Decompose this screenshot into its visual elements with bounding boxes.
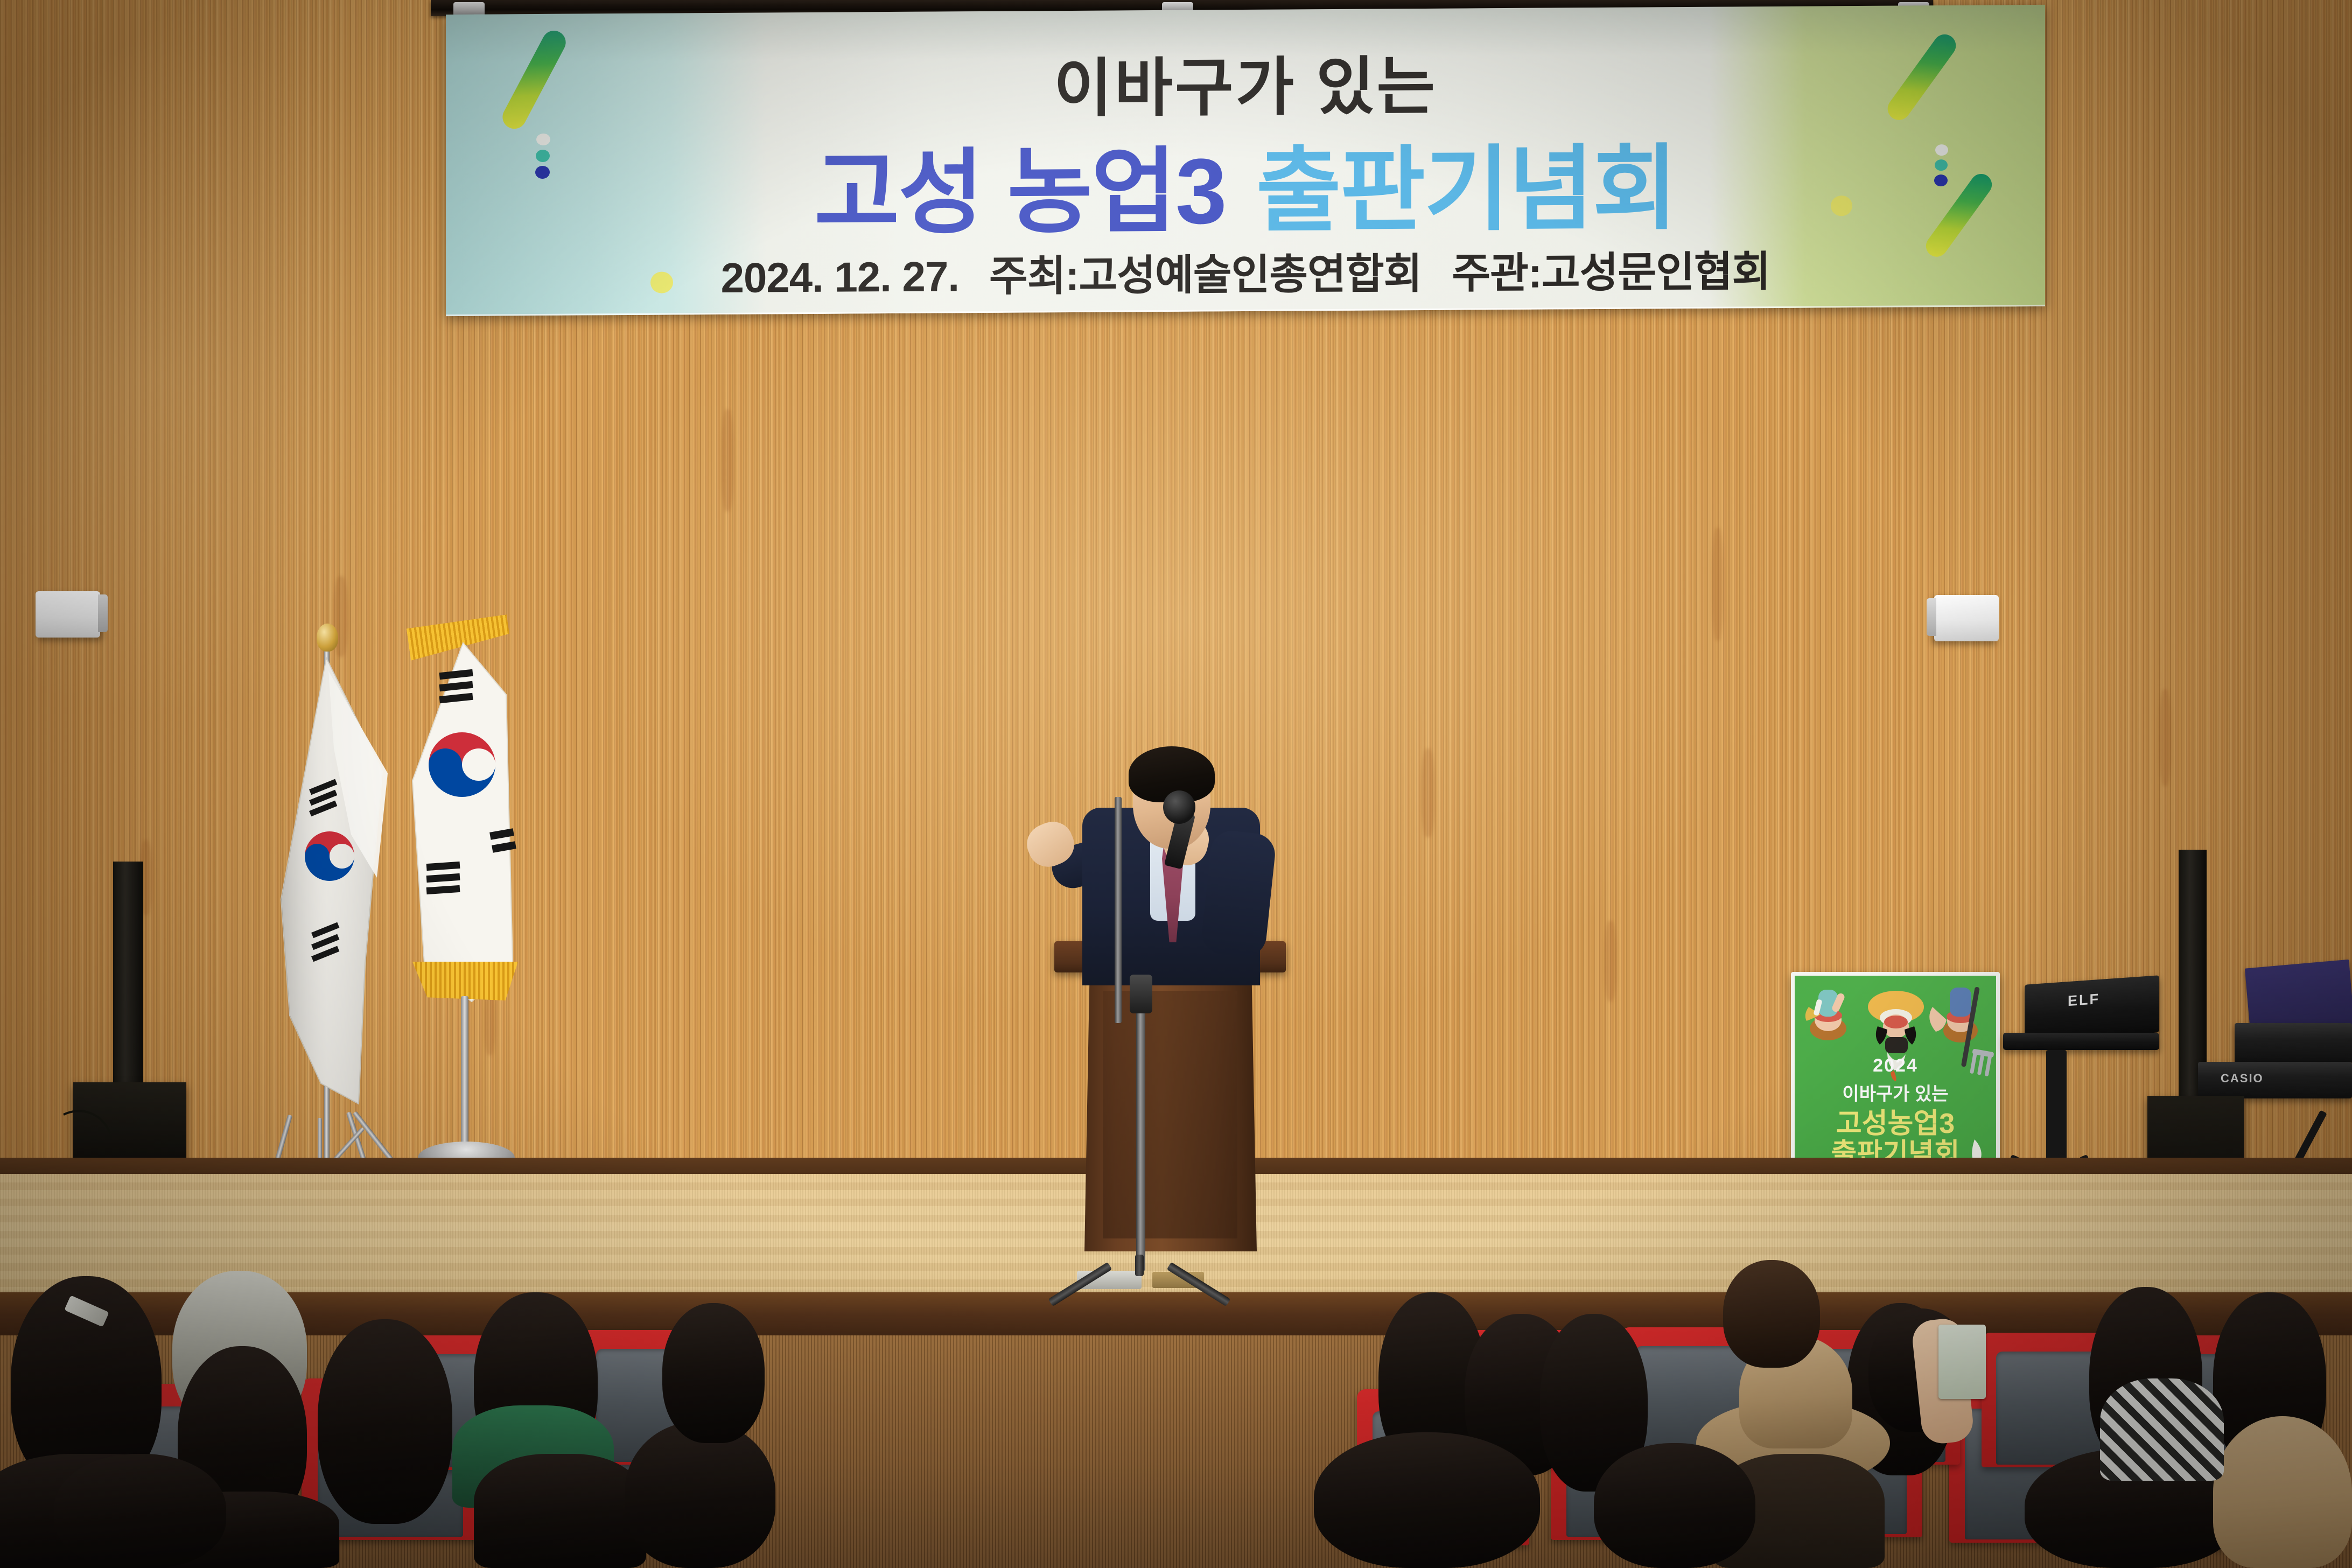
audience-head <box>1723 1260 1820 1368</box>
mic-stand-upper-pole <box>1115 797 1122 1023</box>
wall-grain-mark <box>2159 689 2171 786</box>
column-speaker-right <box>2179 850 2207 1097</box>
audience-shoulders-plaid <box>2100 1378 2224 1481</box>
audience-head <box>318 1319 452 1524</box>
banner-title-primary: 고성 농업3 <box>814 139 1226 246</box>
audience-head-foreground <box>1314 1432 1540 1568</box>
auditorium-scene: 이바구가 있는 고성 농업3출판기념회 2024. 12. 27.주최:고성예술… <box>0 0 2352 1568</box>
elf-amplifier <box>2025 975 2159 1041</box>
banner-credits-row: 2024. 12. 27.주최:고성예술인총연합회주관:고성문인협회 <box>446 236 2045 306</box>
banner-title-secondary: 출판기념회 <box>1256 137 1677 243</box>
column-speaker-left <box>113 862 143 1088</box>
main-event-banner: 이바구가 있는 고성 농업3출판기념회 2024. 12. 27.주최:고성예술… <box>446 5 2045 316</box>
x-banner-year: 2024 <box>1795 1055 1996 1076</box>
flag-stand-pole-front <box>461 996 468 1158</box>
banner-organizer: 주관:고성문인협회 <box>1452 248 1770 297</box>
elf-amplifier-label: ELF <box>2068 991 2100 1010</box>
speaker-right-arm <box>1200 829 1277 958</box>
wall-speaker-left <box>36 591 100 638</box>
audience-head <box>662 1303 765 1443</box>
amplifier-control-panel[interactable] <box>2003 1033 2159 1050</box>
audience-head <box>54 1454 226 1568</box>
wall-grain-mark <box>1712 528 1723 641</box>
microphone-head-icon <box>1163 790 1195 824</box>
flag-group <box>253 619 533 1217</box>
flag-front-cloth <box>253 619 533 1217</box>
podium-front-panel <box>1103 991 1237 1238</box>
casio-keyboard-label: CASIO <box>2221 1072 2264 1086</box>
audience-head <box>1594 1443 1755 1568</box>
smartphone[interactable] <box>1938 1325 1986 1399</box>
mic-stand-leg-center <box>1135 1255 1144 1276</box>
banner-title-row: 고성 농업3출판기념회 <box>446 110 2045 255</box>
mic-stand-lower-pole <box>1136 1002 1145 1271</box>
wall-grain-mark <box>1422 748 1434 837</box>
wall-grain-mark <box>722 409 733 512</box>
flag-fringe-bottom <box>412 962 518 1000</box>
wall-grain-mark <box>1605 921 1616 1002</box>
banner-date: 2024. 12. 27. <box>721 253 959 302</box>
music-stand-tray <box>2235 1023 2352 1064</box>
audience-head <box>625 1422 775 1568</box>
audience-shoulders <box>474 1454 646 1568</box>
mic-stand-clutch[interactable] <box>1130 975 1152 1013</box>
banner-host: 주최:고성예술인총연합회 <box>989 250 1422 300</box>
wall-speaker-right <box>1934 595 1999 641</box>
fedora-hat-right <box>2213 1416 2352 1568</box>
